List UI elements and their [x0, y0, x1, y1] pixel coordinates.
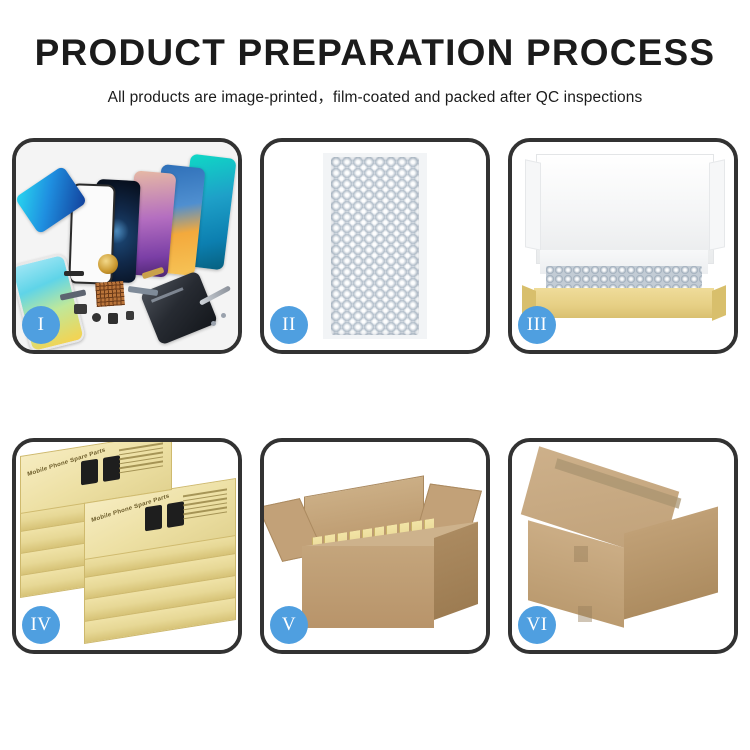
carton-handle-tab	[574, 546, 588, 562]
step-badge-6: VI	[518, 606, 556, 644]
small-part-speaker	[126, 311, 134, 320]
box-spec-lines	[119, 442, 163, 476]
page-subtitle: All products are image-printed，film-coat…	[0, 85, 750, 107]
step-card-3: III	[508, 138, 738, 354]
page-title: PRODUCT PREPARATION PROCESS	[0, 34, 750, 71]
phone-back-housing	[140, 270, 218, 345]
box-screen-image	[167, 501, 184, 528]
carton-front-face	[302, 546, 434, 628]
step-badge-3: III	[518, 306, 556, 344]
small-part-button	[92, 313, 101, 322]
small-part-camera	[108, 313, 118, 324]
small-part-chip	[74, 304, 87, 314]
box-spec-lines	[183, 488, 227, 522]
carton-side-face	[434, 522, 478, 620]
step-badge-4: IV	[22, 606, 60, 644]
carton-handle-tab	[578, 606, 592, 622]
step-card-2: II	[260, 138, 490, 354]
step-card-1: I	[12, 138, 242, 354]
bubble-wrap-pack	[331, 157, 419, 335]
small-part-bar	[64, 271, 84, 276]
box-lid-white	[536, 154, 714, 264]
page-header: PRODUCT PREPARATION PROCESS All products…	[0, 0, 750, 107]
step-badge-1: I	[22, 306, 60, 344]
screw-part	[221, 313, 226, 318]
box-screen-image	[103, 455, 120, 482]
copper-mesh-part	[95, 281, 125, 307]
step-card-4: Mobile Phone Spare Parts Mobile Phone Sp…	[12, 438, 242, 654]
box-screen-image	[81, 459, 98, 486]
step-card-5: V	[260, 438, 490, 654]
step-badge-2: II	[270, 306, 308, 344]
box-tray-yellow	[534, 288, 714, 318]
gold-coil-part	[98, 254, 118, 274]
box-screen-image	[145, 505, 162, 532]
process-steps-grid: I II III	[12, 138, 738, 654]
step-card-6: VI	[508, 438, 738, 654]
screw-part	[211, 321, 216, 326]
infographic-page: PRODUCT PREPARATION PROCESS All products…	[0, 0, 750, 750]
step-badge-5: V	[270, 606, 308, 644]
